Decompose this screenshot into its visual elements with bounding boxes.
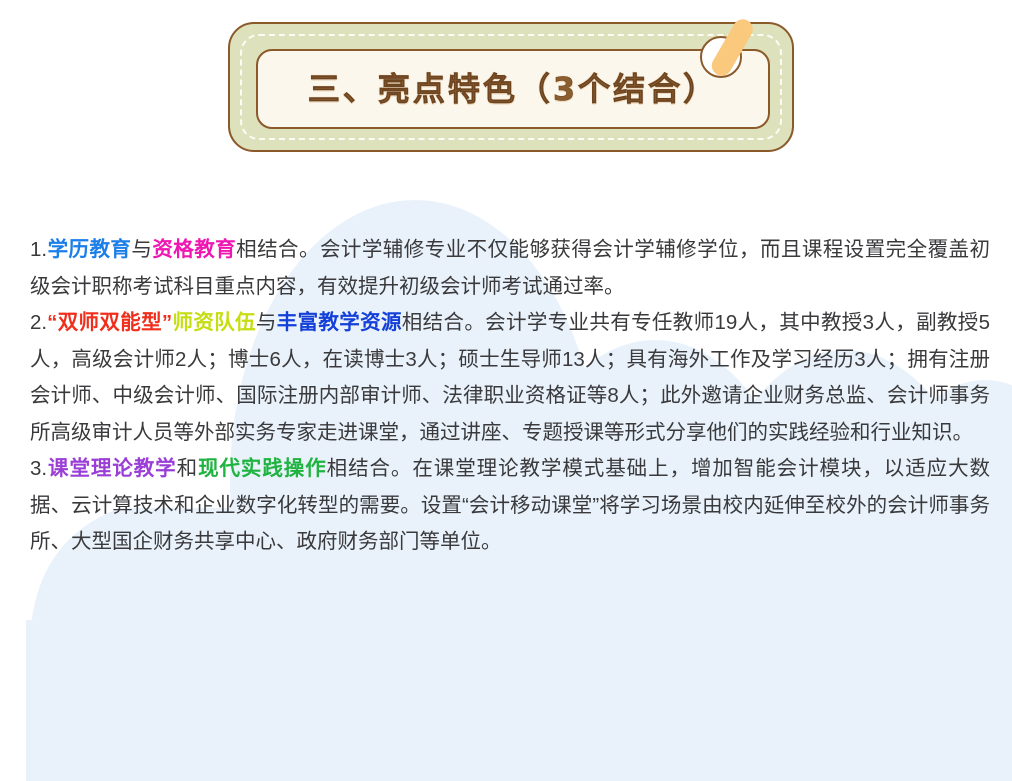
paragraph-number: 2. [30,311,47,334]
banner-inner-panel: 三、亮点特色（3个结合） [256,49,770,129]
section-header-banner: 三、亮点特色（3个结合） [226,18,798,158]
highlight-text: 资格教育 [152,238,236,261]
hill-shape-fill-bottom [26,620,1012,781]
paragraph-number: 1. [30,238,47,261]
highlight-text: 课堂理论教学 [47,457,177,480]
body-text: 与 [256,311,277,334]
paragraph-2: 2.“双师双能型”师资队伍与丰富教学资源相结合。会计学专业共有专任教师19人，其… [30,305,990,451]
paragraph-number: 3. [30,457,47,480]
highlight-text: 学历教育 [47,238,131,261]
paragraph-1: 1.学历教育与资格教育相结合。会计学辅修专业不仅能够获得会计学辅修学位，而且课程… [30,232,990,305]
page-title: 三、亮点特色（3个结合） [308,73,718,105]
paragraph-3: 3.课堂理论教学和现代实践操作相结合。在课堂理论教学模式基础上，增加智能会计模块… [30,451,990,561]
highlight-text: 师资队伍 [172,311,256,334]
body-text: 与 [131,238,152,261]
highlight-text: 丰富教学资源 [277,311,402,334]
highlight-text: “双师双能型” [47,311,172,334]
content-body: 1.学历教育与资格教育相结合。会计学辅修专业不仅能够获得会计学辅修学位，而且课程… [30,232,990,561]
highlight-text: 现代实践操作 [198,457,327,480]
body-text: 和 [177,457,198,480]
